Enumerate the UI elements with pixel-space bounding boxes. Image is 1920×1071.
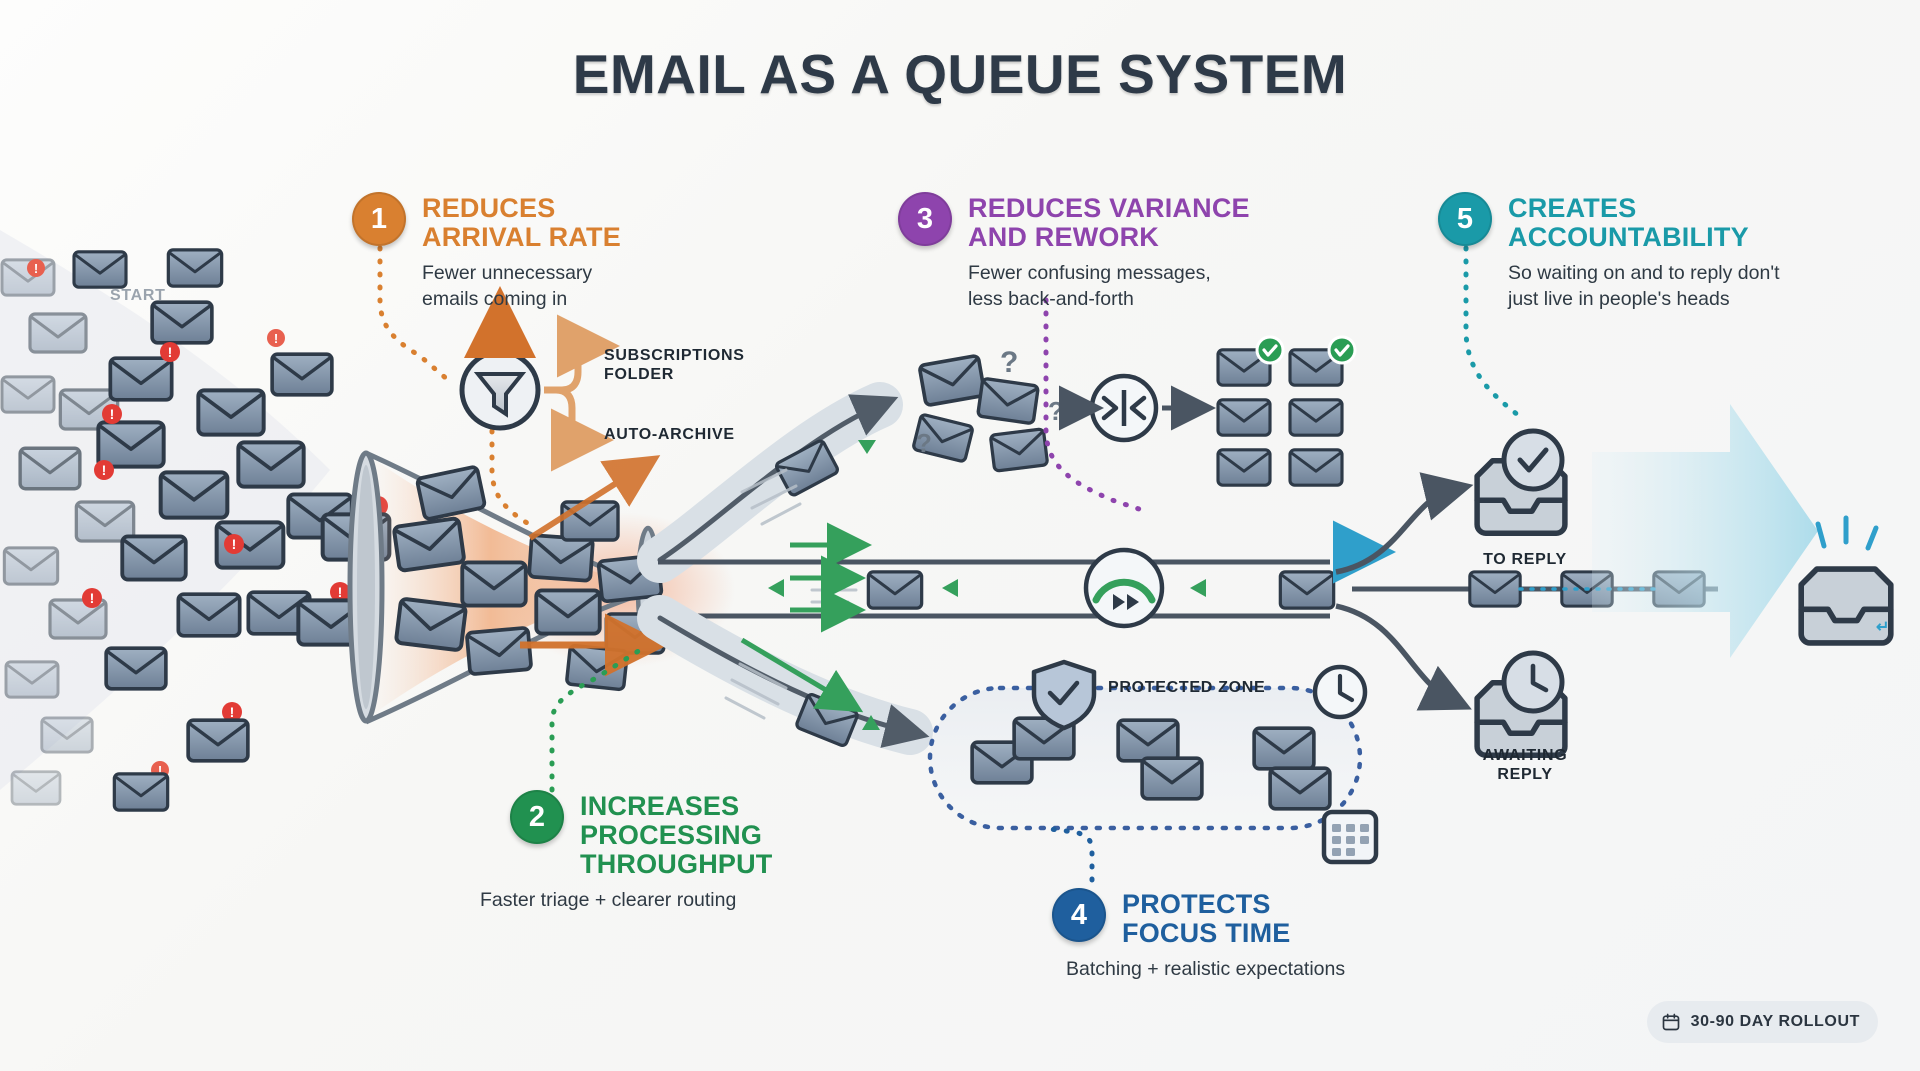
calendar-icon xyxy=(1324,812,1376,862)
svg-text:!: ! xyxy=(90,590,95,606)
to-reply-tray xyxy=(1477,431,1565,533)
protected-zone-label: PROTECTED ZONE xyxy=(1108,678,1265,697)
step-3-sub-line1: Fewer confusing messages, xyxy=(968,261,1250,287)
step-1-badge: 1 xyxy=(352,192,406,246)
step-3-title: REDUCES VARIANCE AND REWORK xyxy=(968,192,1250,252)
outcome-arrow xyxy=(1592,404,1818,658)
awaiting-reply-tray xyxy=(1477,653,1565,755)
svg-text:?: ? xyxy=(1000,346,1018,379)
svg-text:!: ! xyxy=(232,536,237,552)
step-4-title-line2: FOCUS TIME xyxy=(1122,919,1291,948)
svg-text:!: ! xyxy=(338,584,343,600)
step-2-header: 2 INCREASES PROCESSING THROUGHPUT xyxy=(510,790,773,879)
svg-text:?: ? xyxy=(916,428,932,458)
svg-text:!: ! xyxy=(102,462,107,478)
subscriptions-folder-line2: FOLDER xyxy=(604,365,745,384)
step-3: 3 REDUCES VARIANCE AND REWORK Fewer conf… xyxy=(898,192,1250,313)
step-5-header: 5 CREATES ACCOUNTABILITY xyxy=(1438,192,1780,252)
step-1-sub-line2: emails coming in xyxy=(422,287,621,313)
svg-text:!: ! xyxy=(168,344,173,360)
step-1-header: 1 REDUCES ARRIVAL RATE xyxy=(352,192,621,252)
step-4-title-line1: PROTECTS xyxy=(1122,890,1291,919)
awaiting-reply-label: AWAITING REPLY xyxy=(1458,746,1592,784)
step-5: 5 CREATES ACCOUNTABILITY So waiting on a… xyxy=(1438,192,1780,313)
svg-text:!: ! xyxy=(34,261,38,276)
svg-text:?: ? xyxy=(1048,396,1064,426)
step-1-title: REDUCES ARRIVAL RATE xyxy=(422,192,621,252)
step-3-title-line2: AND REWORK xyxy=(968,223,1250,252)
step-1-title-line1: REDUCES xyxy=(422,194,621,223)
svg-text:!: ! xyxy=(274,331,278,346)
step-1-sub-line1: Fewer unnecessary xyxy=(422,261,621,287)
step-3-header: 3 REDUCES VARIANCE AND REWORK xyxy=(898,192,1250,252)
rollout-badge-label: 30-90 DAY ROLLOUT xyxy=(1691,1013,1860,1031)
start-label: START xyxy=(110,286,166,305)
step-1: 1 REDUCES ARRIVAL RATE Fewer unnecessary… xyxy=(352,192,621,313)
step-5-title-line2: ACCOUNTABILITY xyxy=(1508,223,1749,252)
step-4-badge: 4 xyxy=(1052,888,1106,942)
step-3-sub-line2: less back-and-forth xyxy=(968,287,1250,313)
step-4-subtitle: Batching + realistic expectations xyxy=(1066,957,1345,983)
step-4: 4 PROTECTS FOCUS TIME Batching + realist… xyxy=(1052,888,1345,983)
step-3-subtitle: Fewer confusing messages, less back-and-… xyxy=(968,261,1250,313)
step-5-sub-line1: So waiting on and to reply don't xyxy=(1508,261,1780,287)
auto-archive-label: AUTO-ARCHIVE xyxy=(604,425,735,444)
step-2-badge: 2 xyxy=(510,790,564,844)
rollout-badge[interactable]: 30-90 DAY ROLLOUT xyxy=(1647,1001,1878,1043)
step-1-title-line2: ARRIVAL RATE xyxy=(422,223,621,252)
compress-icon xyxy=(1092,376,1156,440)
subscriptions-folder-label: SUBSCRIPTIONS FOLDER xyxy=(604,346,745,384)
step-5-title-line1: CREATES xyxy=(1508,194,1749,223)
step-3-badge: 3 xyxy=(898,192,952,246)
sparkle-icon xyxy=(1818,518,1876,548)
step-2-subtitle: Faster triage + clearer routing xyxy=(480,888,773,914)
clean-message-grid xyxy=(1218,337,1355,485)
svg-text:!: ! xyxy=(110,406,115,422)
awaiting-reply-line2: REPLY xyxy=(1458,765,1592,784)
calendar-icon xyxy=(1661,1012,1681,1032)
infographic-canvas: ! ! ! ! ! ! ! ! ! ! ! xyxy=(0,0,1920,1071)
final-inbox: ↵ xyxy=(1801,518,1891,643)
diagram-artwork: ! ! ! ! ! ! ! ! ! ! ! xyxy=(0,0,1920,1071)
step-3-title-line1: REDUCES VARIANCE xyxy=(968,194,1250,223)
variance-cluster: ? ? ? xyxy=(913,337,1355,485)
step-2-title-line3: THROUGHPUT xyxy=(580,850,773,879)
step-5-subtitle: So waiting on and to reply don't just li… xyxy=(1508,261,1780,313)
step-2-title-line1: INCREASES xyxy=(580,792,773,821)
step-5-title: CREATES ACCOUNTABILITY xyxy=(1508,192,1749,252)
to-reply-label: TO REPLY xyxy=(1466,550,1584,569)
step-5-sub-line2: just live in people's heads xyxy=(1508,287,1780,313)
step-2-title-line2: PROCESSING xyxy=(580,821,773,850)
step-2: 2 INCREASES PROCESSING THROUGHPUT Faster… xyxy=(510,790,773,914)
subscriptions-folder-line1: SUBSCRIPTIONS xyxy=(604,346,745,365)
step-5-badge: 5 xyxy=(1438,192,1492,246)
speed-gauge-icon xyxy=(1086,550,1162,626)
svg-text:!: ! xyxy=(230,704,235,720)
clock-icon xyxy=(1315,667,1365,717)
page-title: EMAIL AS A QUEUE SYSTEM xyxy=(0,42,1920,106)
step-4-title: PROTECTS FOCUS TIME xyxy=(1122,888,1291,948)
filter-icon-group xyxy=(462,318,592,440)
svg-text:↵: ↵ xyxy=(1876,619,1889,636)
step-1-subtitle: Fewer unnecessary emails coming in xyxy=(422,261,621,313)
step-2-title: INCREASES PROCESSING THROUGHPUT xyxy=(580,790,773,879)
step-4-header: 4 PROTECTS FOCUS TIME xyxy=(1052,888,1345,948)
awaiting-reply-line1: AWAITING xyxy=(1458,746,1592,765)
